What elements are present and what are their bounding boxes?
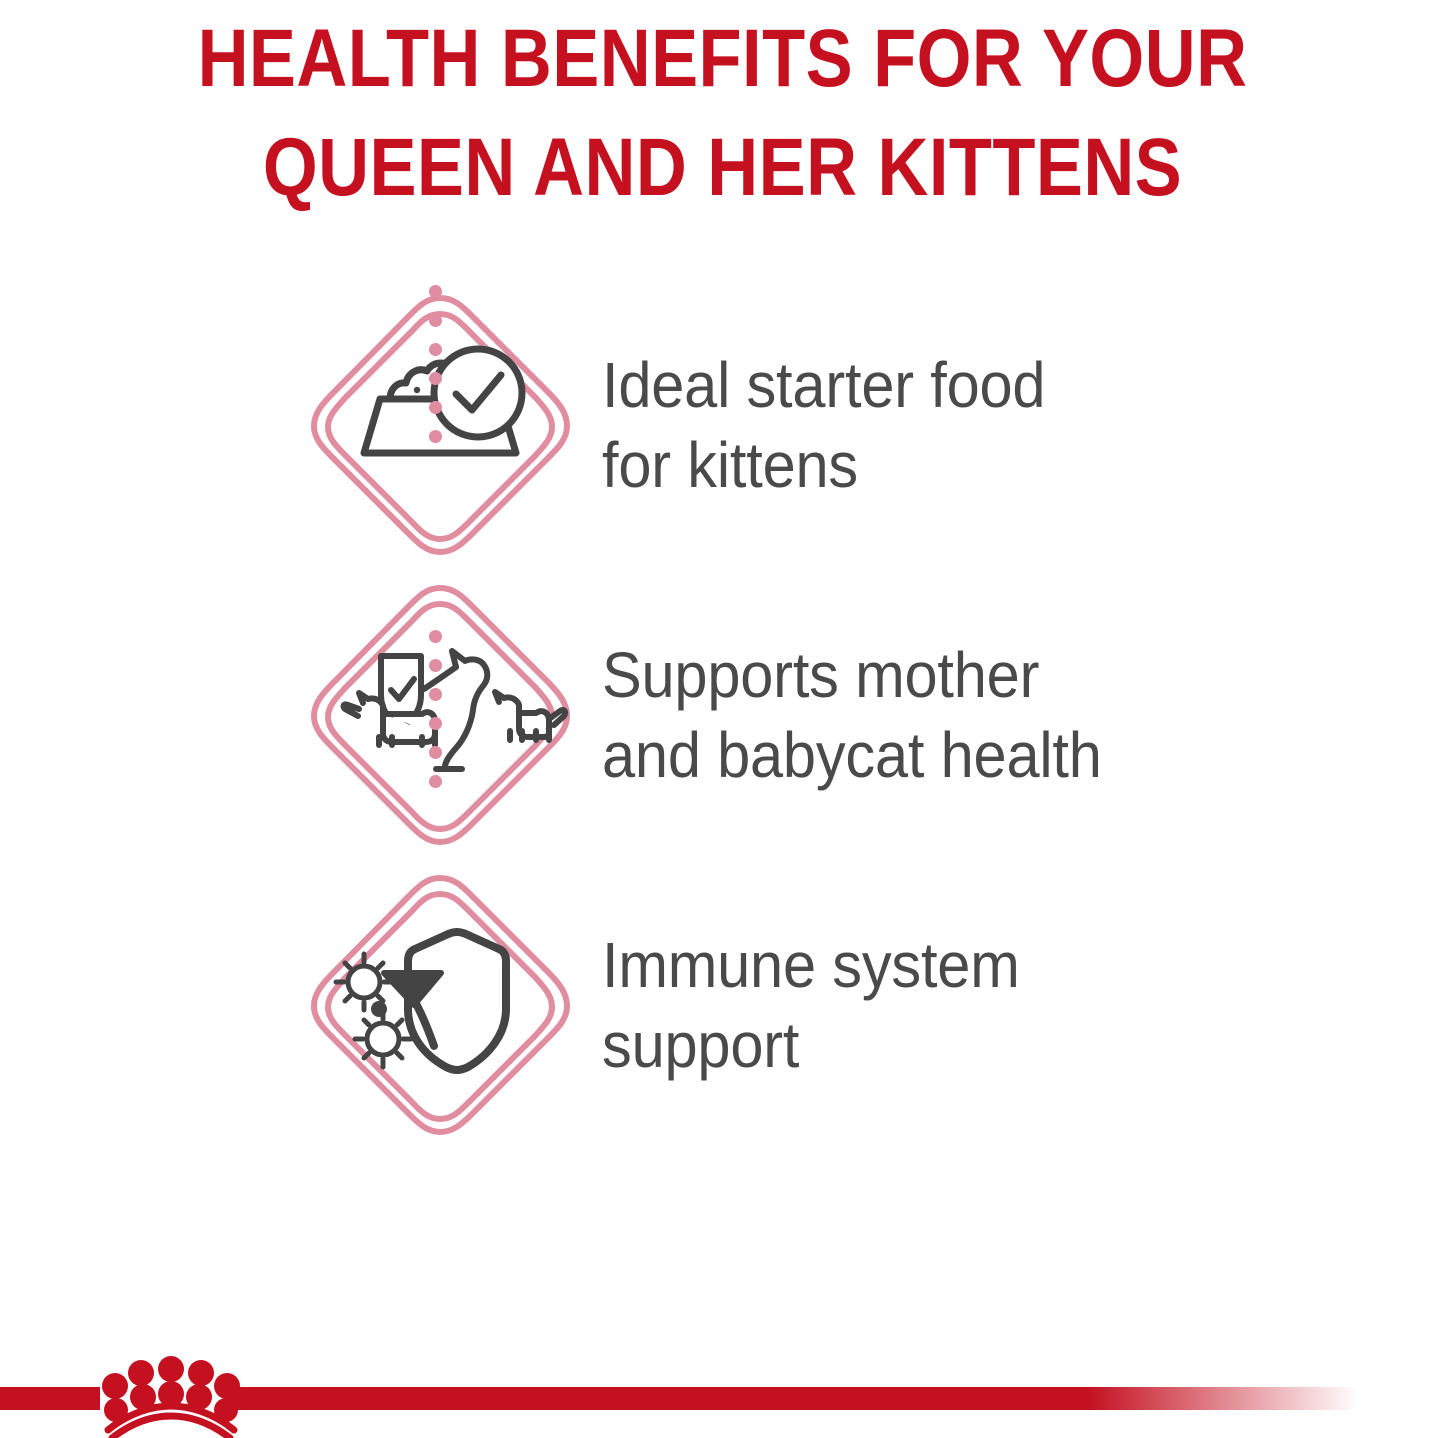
footer bbox=[0, 1330, 1445, 1438]
connector-dot bbox=[429, 401, 442, 414]
connector-dot bbox=[429, 343, 442, 356]
royal-canin-crown-icon bbox=[96, 1352, 246, 1438]
benefit-item-3: Immune system support bbox=[0, 860, 1445, 1150]
benefit-label-3: Immune system support bbox=[602, 925, 1020, 1085]
connector-dot bbox=[429, 372, 442, 385]
connector-dot bbox=[429, 717, 442, 730]
footer-rule-right bbox=[228, 1387, 1358, 1410]
connector-dots-2 bbox=[426, 630, 444, 788]
page-title-line-2: QUEEN AND HER KITTENS bbox=[101, 113, 1344, 222]
connector-dot bbox=[429, 430, 442, 443]
connector-dot bbox=[429, 630, 442, 643]
connector-dot bbox=[429, 659, 442, 672]
connector-dot bbox=[429, 314, 442, 327]
shield-germs-immune-icon bbox=[290, 860, 590, 1150]
benefit-label-1: Ideal starter food for kittens bbox=[602, 345, 1045, 505]
benefit-label-2: Supports mother and babycat health bbox=[602, 635, 1102, 795]
benefit-item-1: Ideal starter food for kittens bbox=[0, 280, 1445, 570]
connector-dot bbox=[429, 688, 442, 701]
page-title: HEALTH BENEFITS FOR YOUR QUEEN AND HER K… bbox=[101, 0, 1344, 222]
benefit-item-2: Supports mother and babycat health bbox=[0, 570, 1445, 860]
connector-dot bbox=[429, 775, 442, 788]
benefits-list: Ideal starter food for kittens bbox=[0, 280, 1445, 1150]
connector-dot bbox=[429, 746, 442, 759]
footer-rule-left bbox=[0, 1387, 100, 1410]
connector-dots-1 bbox=[426, 285, 444, 443]
connector-dot bbox=[429, 285, 442, 298]
page-title-line-1: HEALTH BENEFITS FOR YOUR bbox=[101, 4, 1344, 113]
health-benefits-panel: HEALTH BENEFITS FOR YOUR QUEEN AND HER K… bbox=[0, 0, 1445, 1438]
